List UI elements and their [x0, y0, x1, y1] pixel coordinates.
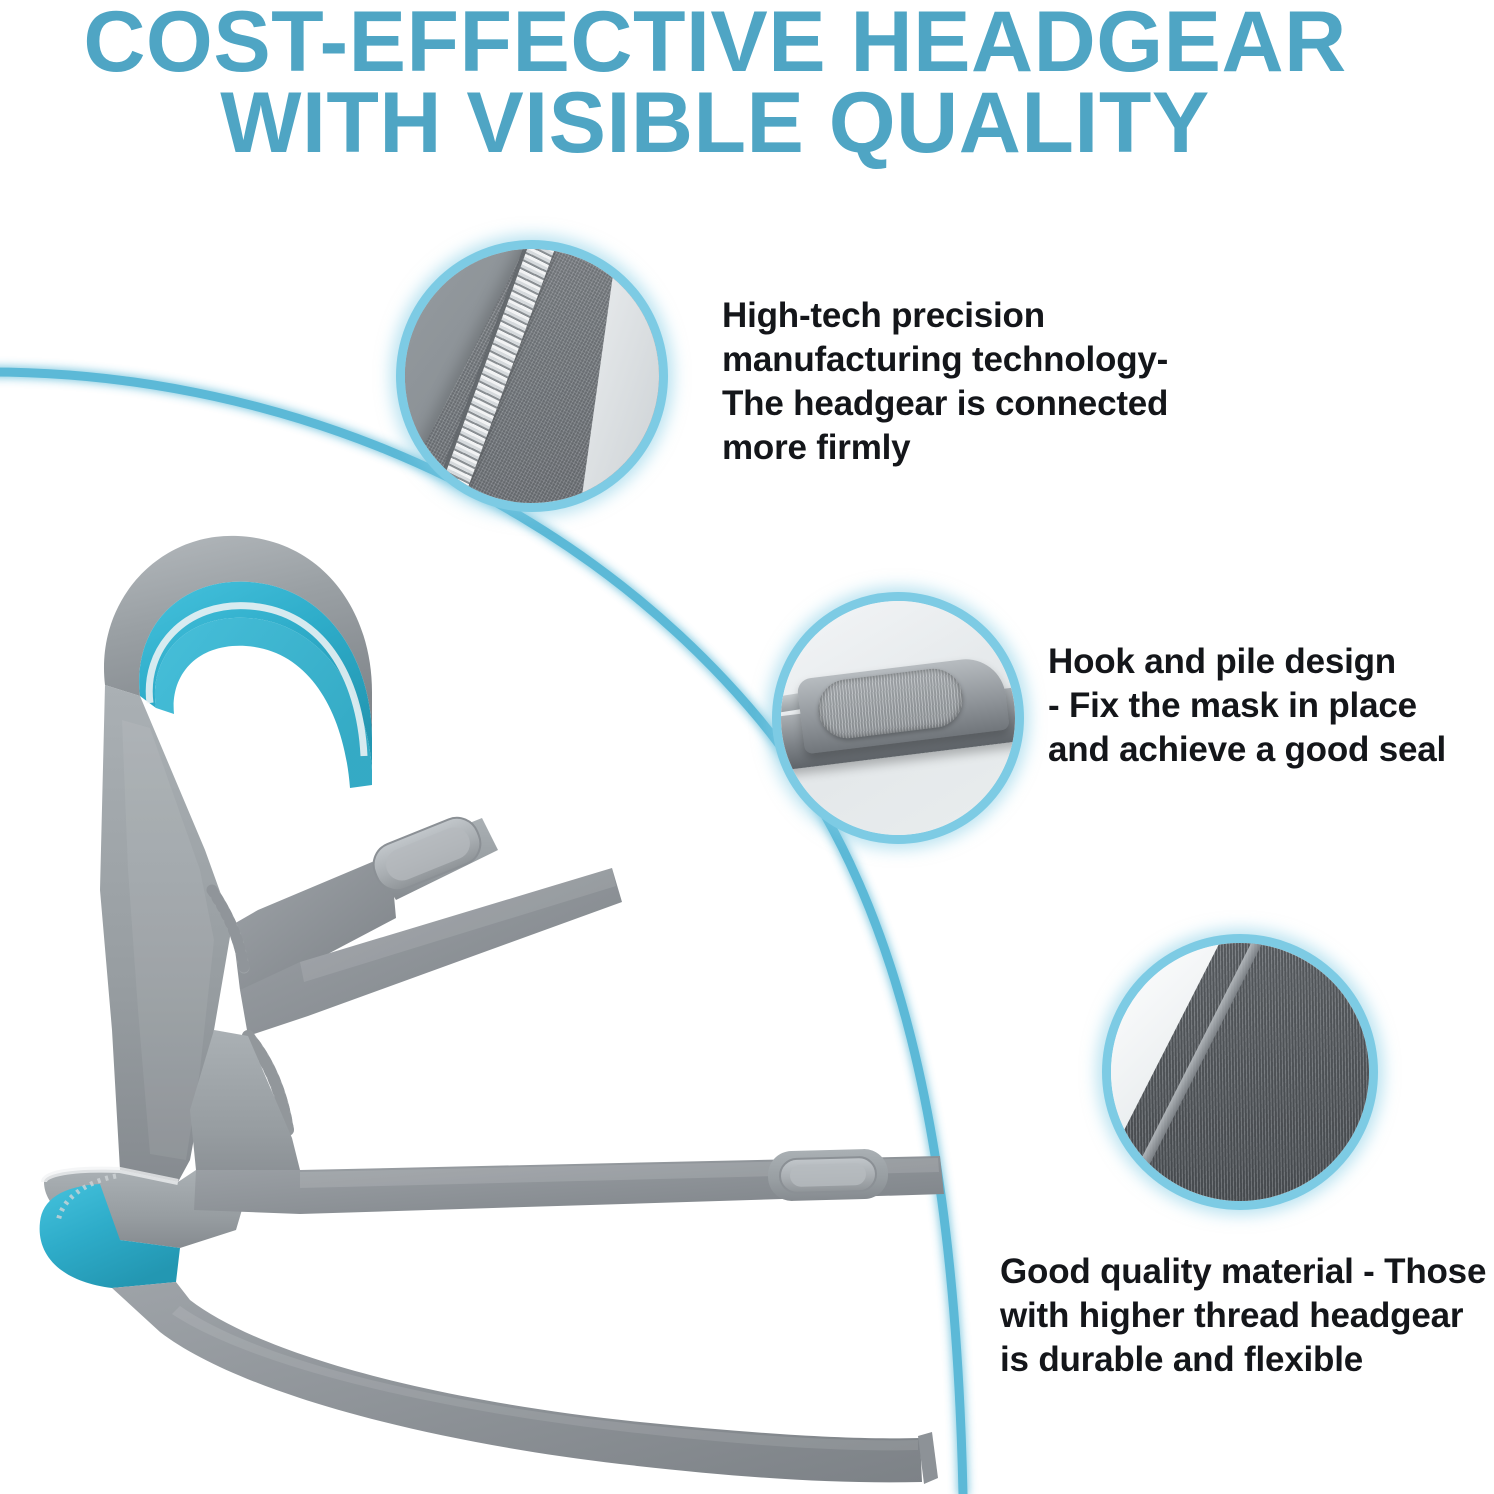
callout-line: manufacturing technology- [722, 338, 1342, 382]
callout-line: - Fix the mask in place [1048, 684, 1488, 728]
callout-line: Hook and pile design [1048, 640, 1488, 684]
title-line-1: COST-EFFECTIVE HEADGEAR [0, 2, 1430, 83]
infographic-page: COST-EFFECTIVE HEADGEAR WITH VISIBLE QUA… [0, 0, 1494, 1494]
stitched-seam-closeup [396, 240, 668, 512]
callout-precision-manufacturing: High-tech precision manufacturing techno… [722, 294, 1342, 470]
material-photo [1111, 943, 1369, 1201]
hook-and-pile-strap-closeup [772, 592, 1024, 844]
callout-line: and achieve a good seal [1048, 728, 1488, 772]
page-title: COST-EFFECTIVE HEADGEAR WITH VISIBLE QUA… [0, 2, 1430, 164]
callout-good-quality-material: Good quality material - Those with highe… [1000, 1250, 1494, 1382]
callout-line: more firmly [722, 426, 1342, 470]
callout-line: is durable and flexible [1000, 1338, 1494, 1382]
stitched-seam-photo [405, 249, 659, 503]
hook-and-pile-photo [781, 601, 1015, 835]
fabric-material-closeup [1102, 934, 1378, 1210]
callout-line: The headgear is connected [722, 382, 1342, 426]
callout-line: High-tech precision [722, 294, 1342, 338]
callout-line: with higher thread headgear [1000, 1294, 1494, 1338]
title-line-2: WITH VISIBLE QUALITY [0, 83, 1430, 164]
callout-line: Good quality material - Those [1000, 1250, 1494, 1294]
callout-hook-and-pile: Hook and pile design - Fix the mask in p… [1048, 640, 1488, 772]
